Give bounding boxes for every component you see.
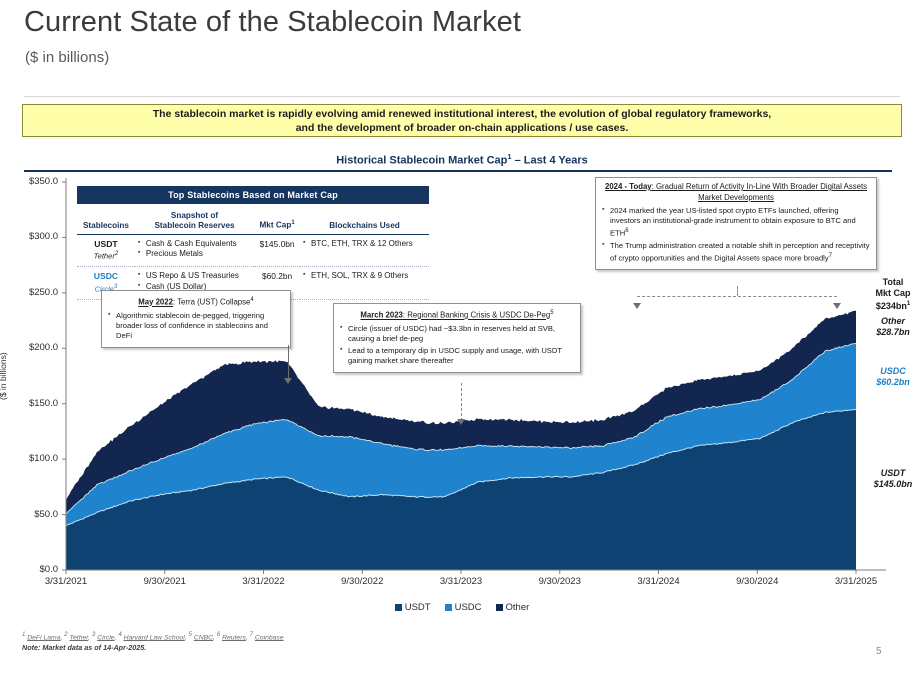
legend-label: USDT: [405, 602, 431, 613]
chart-title-suffix: – Last 4 Years: [512, 155, 588, 167]
list-item: Cash & Cash Equivalents: [138, 239, 251, 250]
page-subtitle: ($ in billions): [25, 49, 109, 66]
callout-may-2022-date: May 2022: [138, 298, 173, 307]
cell-issuer: Tether2: [80, 249, 132, 262]
data-note: Note: Market data as of 14-Apr-2025.: [22, 643, 622, 653]
series-boundary-usdt: [66, 409, 856, 526]
col-reserves: Snapshot of Stablecoin Reserves: [135, 204, 254, 234]
callout-may-2022-footnote-ref: 4: [250, 297, 253, 303]
list-item: BTC, ETH, TRX & 12 Others: [303, 239, 426, 250]
callout-2024-today-title: : Gradual Return of Activity In-Line Wit…: [652, 182, 867, 202]
x-axis-tick-label: 3/31/2025: [811, 576, 901, 587]
col0-line2: Stablecoins: [83, 221, 129, 230]
list-item: 2024 marked the year US-listed spot cryp…: [602, 206, 870, 239]
col-blockchains: Blockchains Used: [300, 204, 429, 234]
legend-item-usdt[interactable]: USDT: [395, 602, 431, 613]
pointer-arrow-march-2023: [457, 419, 465, 425]
callout-2024-today-heading: 2024 - Today: Gradual Return of Activity…: [602, 182, 870, 203]
legend-item-usdc[interactable]: USDC: [445, 602, 482, 613]
pointer-arrow-2024-start: [633, 303, 641, 309]
pointer-stem-march-2023: [461, 383, 462, 421]
pointer-arrow-2024-end: [833, 303, 841, 309]
pointer-bracket-2024-today: [637, 296, 837, 297]
callout-march-2023-bullets: Circle (issuer of USDC) had ~$3.3bn in r…: [340, 324, 574, 366]
col2-line2: Mkt Cap: [259, 221, 291, 230]
area-usdt: [66, 409, 856, 570]
callout-2024-today-bullets: 2024 marked the year US-listed spot cryp…: [602, 206, 870, 263]
slide: Current State of the Stablecoin Market (…: [0, 0, 924, 673]
top-stablecoins-table: Top Stablecoins Based on Market Cap Stab…: [77, 186, 429, 300]
callout-2024-today-date: 2024 - Today: [605, 182, 652, 191]
table-header-bar: Top Stablecoins Based on Market Cap: [77, 186, 429, 204]
callout-may-2022-title: : Terra (UST) Collapse: [173, 298, 250, 307]
pointer-stem-may-2022: [288, 345, 289, 380]
list-item: Algorithmic stablecoin de-pegged, trigge…: [108, 311, 284, 341]
right-label-usdt-value: $145.0bn: [874, 479, 913, 489]
banner-line-2: and the development of broader on-chain …: [296, 121, 629, 135]
x-axis-tick-label: 3/31/2024: [614, 576, 704, 587]
x-axis-tick-label: 9/30/2024: [712, 576, 802, 587]
legend-swatch: [395, 604, 402, 611]
pointer-stem-2024-today: [737, 286, 738, 296]
source-list: 1 DeFi Lama, 2 Tether, 3 Circle, 4 Harva…: [22, 630, 622, 643]
list-item: ETH, SOL, TRX & 9 Others: [303, 271, 426, 282]
header-divider: [24, 96, 900, 97]
callout-march-2023: March 2023: Regional Banking Crisis & US…: [333, 303, 581, 373]
page-number: 5: [876, 646, 882, 657]
right-label-usdt: USDT $145.0bn: [862, 468, 924, 490]
cell-chains: ETH, SOL, TRX & 9 Others: [300, 267, 429, 300]
y-axis-tick-label: $100.0: [0, 453, 58, 464]
list-item: Circle (issuer of USDC) had ~$3.3bn in r…: [340, 324, 574, 344]
footnotes: 1 DeFi Lama, 2 Tether, 3 Circle, 4 Harva…: [22, 630, 622, 653]
banner-line-1: The stablecoin market is rapidly evolvin…: [153, 107, 771, 121]
y-axis-tick-label: $50.0: [0, 509, 58, 520]
table-header-row: Stablecoins Snapshot of Stablecoin Reser…: [77, 204, 429, 234]
table-body: Stablecoins Snapshot of Stablecoin Reser…: [77, 204, 429, 300]
right-label-usdc-value: $60.2bn: [876, 377, 910, 387]
y-axis-tick-label: $200.0: [0, 342, 58, 353]
x-axis-tick-label: 3/31/2022: [219, 576, 309, 587]
callout-2024-today: 2024 - Today: Gradual Return of Activity…: [595, 177, 877, 270]
col1-line2: Stablecoin Reserves: [154, 221, 234, 230]
x-axis-tick-label: 3/31/2023: [416, 576, 506, 587]
legend-swatch: [445, 604, 452, 611]
col-mktcap: Mkt Cap1: [254, 204, 300, 234]
right-label-other-name: Other: [881, 316, 905, 326]
table-row: USDTTether2Cash & Cash EquivalentsPrecio…: [77, 234, 429, 267]
callout-may-2022-bullets: Algorithmic stablecoin de-pegged, trigge…: [108, 311, 284, 341]
list-item: The Trump administration created a notab…: [602, 241, 870, 264]
col1-line1: Snapshot of: [171, 211, 218, 220]
callout-may-2022: May 2022: Terra (UST) Collapse4 Algorith…: [101, 290, 291, 348]
callout-may-2022-heading: May 2022: Terra (UST) Collapse4: [108, 295, 284, 308]
callout-march-2023-footnote-ref: 5: [550, 310, 553, 316]
right-label-other-value: $28.7bn: [876, 327, 910, 337]
callout-march-2023-date: March 2023: [360, 311, 402, 320]
legend-item-other[interactable]: Other: [496, 602, 530, 613]
cell-coin: USDTTether2: [77, 234, 135, 267]
legend-label: USDC: [455, 602, 482, 613]
col-stablecoins: Stablecoins: [77, 204, 135, 234]
right-label-other: Other $28.7bn: [862, 316, 924, 338]
x-axis-tick-label: 9/30/2023: [515, 576, 605, 587]
legend-swatch: [496, 604, 503, 611]
list-item: Precious Metals: [138, 249, 251, 260]
list-item: US Repo & US Treasuries: [138, 271, 251, 282]
y-axis-tick-label: $300.0: [0, 231, 58, 242]
x-axis-tick-label: 9/30/2022: [317, 576, 407, 587]
y-axis-tick-label: $0.0: [0, 564, 58, 575]
x-axis-tick-label: 9/30/2021: [120, 576, 210, 587]
col3-line2: Blockchains Used: [329, 221, 400, 230]
right-label-usdt-name: USDT: [881, 468, 906, 478]
right-label-total-value: $234bn: [876, 301, 907, 311]
callout-march-2023-heading: March 2023: Regional Banking Crisis & US…: [340, 308, 574, 321]
page-title: Current State of the Stablecoin Market: [24, 6, 521, 39]
y-axis-tick-label: $250.0: [0, 287, 58, 298]
y-axis-tick-label: $350.0: [0, 176, 58, 187]
x-axis-tick-label: 3/31/2021: [21, 576, 111, 587]
col2-footnote-ref: 1: [291, 220, 294, 226]
pointer-arrow-may-2022: [284, 378, 292, 384]
y-axis-tick-label: $150.0: [0, 398, 58, 409]
right-label-usdc: USDC $60.2bn: [862, 366, 924, 388]
cell-chains: BTC, ETH, TRX & 12 Others: [300, 234, 429, 267]
right-label-usdc-name: USDC: [880, 366, 906, 376]
legend-label: Other: [506, 602, 530, 613]
chart-title-rule: [24, 170, 892, 172]
chart-title: Historical Stablecoin Market Cap1 – Last…: [0, 152, 924, 167]
key-message-banner: The stablecoin market is rapidly evolvin…: [22, 104, 902, 137]
chart-legend: USDTUSDCOther: [0, 602, 924, 613]
right-label-total-line2: Mkt Cap: [875, 288, 910, 298]
right-label-total-footnote-ref: 1: [907, 301, 910, 307]
y-axis-title: ($ in billions): [0, 352, 8, 400]
right-label-total: Total Mkt Cap $234bn1: [862, 277, 924, 312]
cell-reserves: Cash & Cash EquivalentsPrecious Metals: [135, 234, 254, 267]
right-label-total-line1: Total: [883, 277, 904, 287]
callout-march-2023-title: : Regional Banking Crisis & USDC De-Peg: [403, 311, 550, 320]
cell-mktcap: $145.0bn: [254, 234, 300, 267]
chart-title-text: Historical Stablecoin Market Cap: [336, 155, 507, 167]
list-item: Lead to a temporary dip in USDC supply a…: [340, 346, 574, 366]
